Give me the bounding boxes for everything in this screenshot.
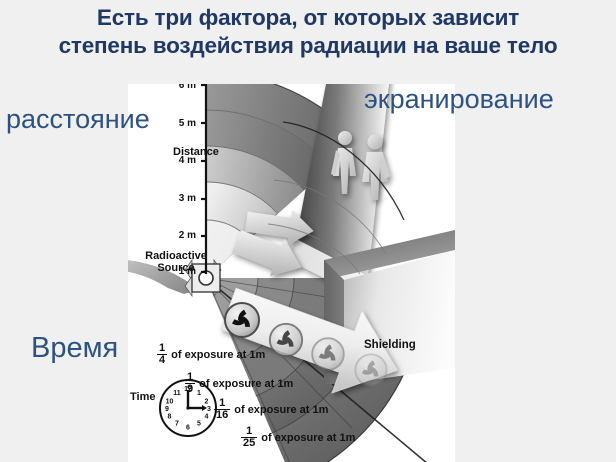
ru-label-shielding: экранирование (364, 86, 554, 113)
slide-canvas: Есть три фактора, от которых зависит сте… (0, 0, 616, 462)
distance-axis (201, 84, 206, 274)
tick-label-2m: 2 m (170, 230, 196, 241)
tick-label-1m: 1 m (170, 266, 196, 277)
svg-text:8: 8 (168, 414, 172, 421)
diagram-panel: 12 1 2 3 4 5 6 7 8 9 10 11 (128, 84, 455, 462)
tick-label-4m: 4 m (170, 155, 196, 166)
exposure-text: of exposure at 1m (234, 404, 328, 416)
radiation-trefoil-icon (270, 324, 302, 356)
ru-label-distance: расстояние (6, 106, 150, 133)
ru-label-time: Время (31, 334, 118, 363)
svg-text:10: 10 (166, 399, 174, 406)
svg-text:11: 11 (173, 390, 181, 397)
svg-text:7: 7 (175, 421, 179, 428)
page-title-line-1: Есть три фактора, от которых зависит (0, 4, 616, 32)
fraction-denominator: 16 (214, 409, 230, 421)
fraction: 1 4 (157, 343, 167, 366)
radiation-trefoil-icon (355, 354, 386, 385)
svg-text:4: 4 (205, 414, 209, 421)
svg-text:6: 6 (186, 425, 190, 432)
label-source-line-1: Radioactive (145, 250, 207, 262)
fraction: 1 9 (185, 372, 195, 395)
exposure-text: of exposure at 1m (171, 349, 265, 361)
tick-label-6m: 6 m (170, 84, 196, 91)
page-title: Есть три фактора, от которых зависит сте… (0, 4, 616, 60)
fraction-denominator: 9 (185, 383, 195, 395)
svg-text:9: 9 (165, 406, 169, 413)
exposure-row: 1 4 of exposure at 1m (157, 343, 265, 366)
exposure-text: of exposure at 1m (261, 432, 355, 444)
exposure-text: of exposure at 1m (199, 378, 293, 390)
fraction-denominator: 25 (241, 437, 257, 449)
fraction: 1 25 (241, 426, 257, 449)
svg-text:2: 2 (205, 399, 209, 406)
fraction-numerator: 1 (157, 343, 167, 354)
fraction: 1 16 (214, 398, 230, 421)
exposure-row: 1 25 of exposure at 1m (241, 426, 355, 449)
fraction-numerator: 1 (244, 426, 254, 437)
page-title-line-2: степень воздействия радиации на ваше тел… (0, 32, 616, 60)
fraction-numerator: 1 (217, 398, 227, 409)
fraction-denominator: 4 (157, 354, 167, 366)
exposure-row: 1 16 of exposure at 1m (214, 398, 328, 421)
label-shielding: Shielding (364, 339, 416, 351)
tick-label-5m: 5 m (170, 118, 196, 129)
exposure-row: 1 9 of exposure at 1m (185, 372, 293, 395)
label-time: Time (130, 391, 155, 403)
tick-label-3m: 3 m (170, 193, 196, 204)
svg-text:5: 5 (197, 421, 201, 428)
radiation-trefoil-icon (312, 338, 344, 370)
radiation-trefoil-icon (225, 303, 259, 337)
svg-text:3: 3 (207, 406, 211, 413)
fraction-numerator: 1 (185, 372, 195, 383)
